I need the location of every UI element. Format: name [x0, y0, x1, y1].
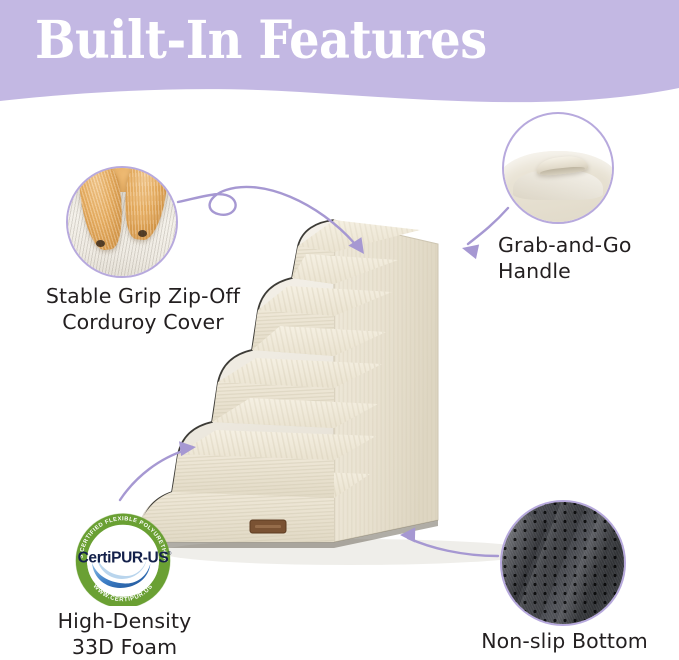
corduroy-fabric-surface [68, 168, 176, 276]
non-slip-fabric-photo [500, 500, 626, 626]
header-band: Built-In Features [0, 0, 679, 112]
feature-label-cover: Stable Grip Zip-Off Corduroy Cover [18, 283, 268, 335]
certipur-us-seal-svg: CONTAINS CERTIFIED FLEXIBLE POLYURETHANE… [62, 508, 184, 606]
page-title: Built-In Features [35, 14, 487, 67]
feature-label-nonslip: Non-slip Bottom [452, 628, 677, 654]
feature-label-foam: High-Density 33D Foam [22, 608, 227, 660]
non-slip-fabric-surface [502, 502, 624, 624]
cat-toe-right [138, 230, 147, 237]
infographic-canvas: Built-In Features [0, 0, 679, 658]
handle-closeup [504, 114, 612, 222]
carry-handle-photo [502, 112, 614, 224]
brand-leather-tag [250, 520, 286, 533]
cat-paws-on-corduroy-photo [66, 166, 178, 278]
certipur-us-badge: CONTAINS CERTIFIED FLEXIBLE POLYURETHANE… [62, 508, 184, 606]
cat-toe-left [96, 240, 105, 247]
badge-registered-mark: ® [167, 550, 172, 557]
feature-label-handle: Grab-and-Go Handle [498, 232, 678, 284]
badge-wordmark: CertiPUR-US [78, 550, 169, 567]
